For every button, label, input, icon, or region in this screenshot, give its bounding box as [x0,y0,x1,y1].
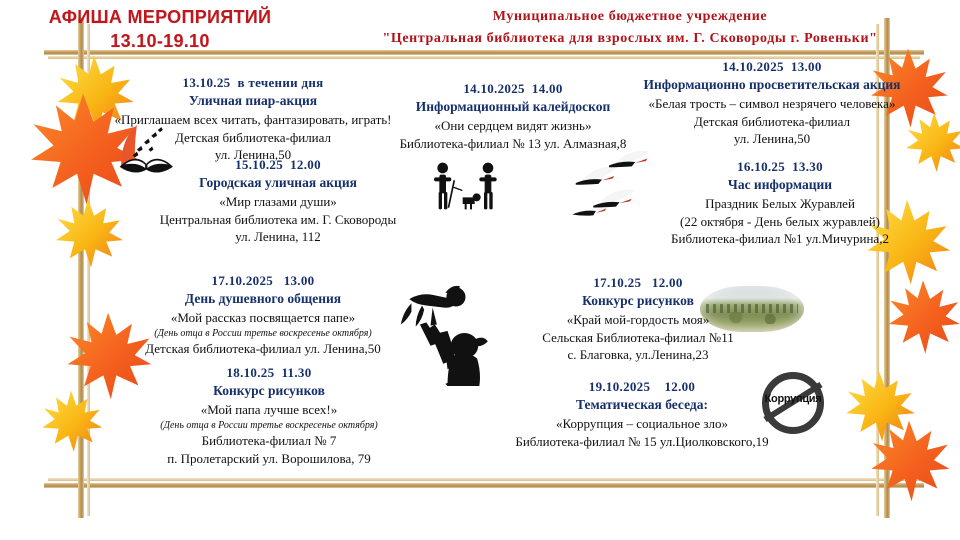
event-place: Сельская Библиотека-филиал №11 [498,329,778,347]
frame-left-inner-bar [87,24,90,516]
event-subtitle: Праздник Белых Журавлей [620,195,940,213]
event-date: 18.10.25 11.30 [114,364,424,382]
event-place: Библиотека-филиал №1 ул.Мичурина,2 [620,230,940,248]
event-title: Информационно просветительская акция [598,76,946,95]
poster-title-dates: 13.10-19.10 [30,30,290,54]
event-title: Городская уличная акция [128,174,428,193]
event-subtitle: «Мой рассказ посвящается папе» [108,309,418,327]
event-title: Час информации [620,176,940,195]
frame-left-bar [78,18,84,518]
event-block: 14.10.2025 13.00 Информационно просветит… [598,58,946,148]
event-address: с. Благовка, ул.Ленина,23 [498,346,778,364]
event-title: Конкурс рисунков [498,292,778,311]
event-subtitle: «Мой папа лучше всех!» [114,401,424,419]
event-date: 14.10.2025 13.00 [598,58,946,76]
institution-line1: Муниципальное бюджетное учреждение [300,6,960,28]
event-place: Детская библиотека-филиал ул. Ленина,50 [108,340,418,358]
event-date: 16.10.25 13.30 [620,158,940,176]
event-subtitle: «Коррупция – социальное зло» [482,415,802,433]
event-note: (День отца в России третье воскресенье о… [108,327,418,341]
event-date: 13.10.25 в течении дня [108,74,398,92]
event-block: 13.10.25 в течении дня Уличная пиар-акци… [108,74,398,164]
event-subtitle: «Мир глазами души» [128,193,428,211]
event-place: Библиотека-филиал № 7 [114,432,424,450]
event-subtitle: «Край мой-гордость моя» [498,311,778,329]
event-address: ул. Ленина,50 [598,130,946,148]
event-place: Библиотека-филиал № 15 ул.Циолковского,1… [482,433,802,451]
frame-bottom-inner-bar [48,478,920,481]
event-subtitle: «Белая трость – символ незрячего человек… [598,95,946,113]
event-place: Центральная библиотека им. Г. Сковороды [128,211,428,229]
institution-name: Муниципальное бюджетное учреждение "Цент… [300,6,960,49]
event-date: 17.10.2025 13.00 [108,272,418,290]
poster-title: АФИША МЕРОПРИЯТИЙ 13.10-19.10 [30,6,290,54]
event-block: 18.10.25 11.30 Конкурс рисунков «Мой пап… [114,364,424,468]
event-block: 16.10.25 13.30 Час информации Праздник Б… [620,158,940,248]
poster-title-line1: АФИША МЕРОПРИЯТИЙ [30,6,290,30]
event-title: День душевного общения [108,290,418,309]
event-title: Конкурс рисунков [114,382,424,401]
blind-person-guide-dog-pictogram-icon [424,160,504,216]
frame-bottom-bar [44,483,924,488]
event-place: Детская библиотека-филиал [108,129,398,147]
maple-leaf-icon [34,388,108,456]
maple-leaf-icon [880,278,960,356]
event-block: 15.10.25 12.00 Городская уличная акция «… [128,156,428,246]
event-place: Детская библиотека-филиал [598,113,946,131]
event-date: 19.10.2025 12.00 [482,378,802,396]
maple-leaf-icon [836,368,922,446]
event-note: (День отца в России третье воскресенье о… [114,419,424,433]
event-title: Тематическая беседа: [482,396,802,415]
event-block: 17.10.2025 13.00 День душевного общения … [108,272,418,358]
event-block: 19.10.2025 12.00 Тематическая беседа: «К… [482,378,802,450]
institution-line2: "Центральная библиотека для взрослых им.… [300,28,960,50]
event-subtitle: «Приглашаем всех читать, фантазировать, … [108,111,398,129]
event-note: (22 октября - День белых журавлей) [620,213,940,231]
event-address: п. Пролетарский ул. Ворошилова, 79 [114,450,424,468]
event-address: ул. Ленина, 112 [128,228,428,246]
poster-canvas: АФИША МЕРОПРИЯТИЙ 13.10-19.10 Муниципаль… [0,0,960,540]
event-block: 17.10.25 12.00 Конкурс рисунков «Край мо… [498,274,778,364]
event-title: Уличная пиар-акция [108,92,398,111]
event-date: 17.10.25 12.00 [498,274,778,292]
event-date: 15.10.25 12.00 [128,156,428,174]
